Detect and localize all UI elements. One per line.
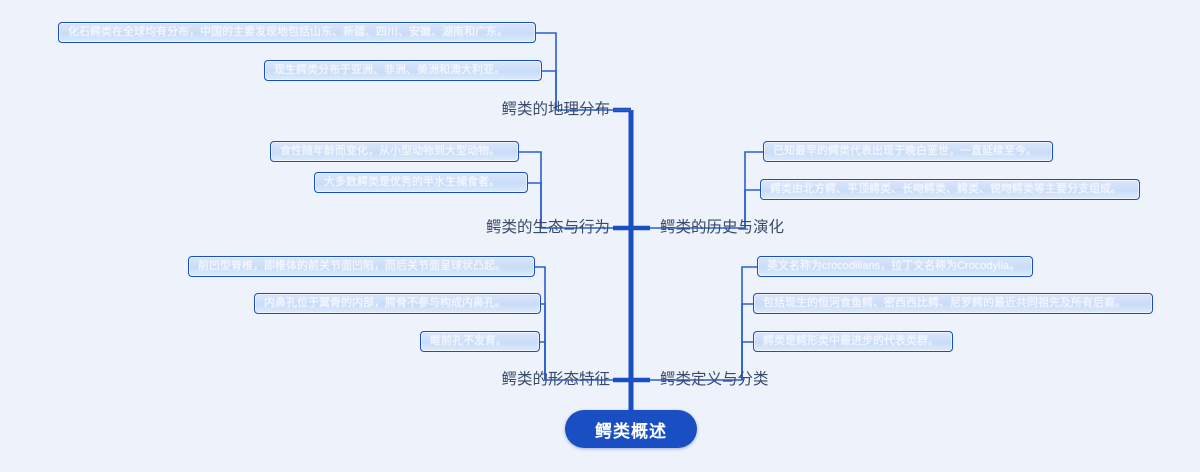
leaf-node[interactable]: 包括现生的恒河食鱼鳄、密西西比鳄、尼罗鳄的最近共同祖先及所有后裔。 [753,293,1153,314]
branch-label-geography[interactable]: 鳄类的地理分布 [340,100,610,120]
leaf-line-geo-1 [535,33,631,110]
leaf-node[interactable]: 鳄类是鳄形类中最进步的代表类群。 [753,331,953,352]
leaf-line-mor-2 [540,304,545,380]
leaf-line-eco-1 [518,152,613,228]
leaf-node[interactable]: 大多数鳄类是优秀的半水生捕食者。 [314,172,528,193]
leaf-node[interactable]: 食性随年龄而变化，从小型动物到大型动物。 [270,141,519,162]
mindmap-canvas: 鳄类概述 鳄类的地理分布 鳄类的生态与行为 鳄类的历史与演化 鳄类的形态特征 鳄… [0,0,1200,472]
leaf-node[interactable]: 化石鳄类在全球均有分布，中国的主要发现地包括山东、新疆、四川、安徽、湖南和广东。 [58,22,536,43]
branch-label-definition[interactable]: 鳄类定义与分类 [660,370,940,390]
leaf-line-def-1 [650,267,757,380]
leaf-line-def-2 [742,304,753,380]
leaf-node[interactable]: 鳄类由北方鳄、平顶鳄类、长吻鳄类、鳄类、锐吻鳄类等主要分支组成。 [760,179,1140,200]
leaf-node[interactable]: 内鼻孔位于翼骨的内部，腭骨不参与构成内鼻孔。 [254,293,541,314]
leaf-line-his-1 [650,152,763,228]
leaf-node[interactable]: 前凹型脊椎，即椎体的前关节面凹陷，而后关节面呈球状凸起。 [188,256,535,277]
leaf-node[interactable]: 现生鳄类分布于亚洲、非洲、美洲和澳大利亚。 [264,60,542,81]
branch-label-morphology[interactable]: 鳄类的形态特征 [340,370,610,390]
branch-label-history[interactable]: 鳄类的历史与演化 [660,218,940,238]
leaf-node[interactable]: 眶前孔不发育。 [420,331,540,352]
leaf-line-mor-1 [535,267,613,380]
leaf-node[interactable]: 英文名称为crocodilians，拉丁文名称为Crocodylia。 [757,256,1033,277]
leaf-node[interactable]: 已知最早的鳄类代表出现于晚白垩世，一直延续至今。 [763,141,1053,162]
root-node[interactable]: 鳄类概述 [565,410,697,448]
branch-label-ecology[interactable]: 鳄类的生态与行为 [340,218,610,238]
